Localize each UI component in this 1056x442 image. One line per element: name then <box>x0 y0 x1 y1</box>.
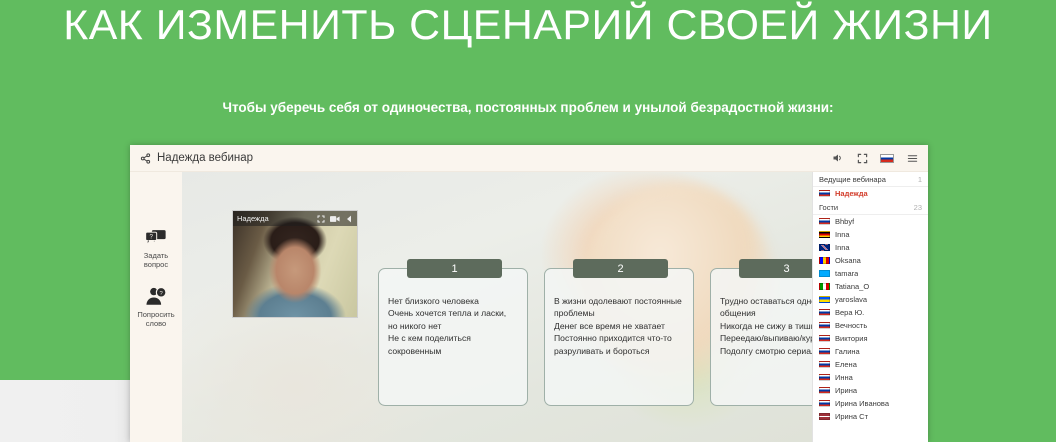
participant-name: Ирина Ст <box>835 412 868 421</box>
country-flag-icon <box>819 335 830 342</box>
country-flag-icon <box>819 361 830 368</box>
country-flag-icon <box>819 257 830 264</box>
list-item[interactable]: Tatiana_O <box>813 280 928 293</box>
ask-question-label: Задать вопрос <box>132 251 180 269</box>
country-flag-icon <box>819 283 830 290</box>
participant-name: Елена <box>835 360 857 369</box>
list-item[interactable]: Виктория <box>813 332 928 345</box>
guest-list: BhbyfInnaInnaOksanatamaraTatiana_Oyarosl… <box>813 215 928 423</box>
webinar-body: ? Задать вопрос ? Попросить слово <box>130 172 928 442</box>
video-control-strip: Надежда <box>233 211 357 226</box>
country-flag-icon <box>819 270 830 277</box>
list-item[interactable]: Елена <box>813 358 928 371</box>
guests-count: 23 <box>914 203 922 212</box>
country-flag-icon <box>819 400 830 407</box>
card-text: В жизни одолевают постоянные проблемы Де… <box>554 295 684 357</box>
video-fullscreen-icon[interactable] <box>317 215 325 223</box>
list-item[interactable]: yaroslava <box>813 293 928 306</box>
card-number: 2 <box>573 259 668 278</box>
presentation-stage: Надежда <box>182 172 812 442</box>
webinar-topbar: Надежда вебинар <box>130 145 928 172</box>
country-flag-icon <box>819 387 830 394</box>
page-subtitle: Чтобы уберечь себя от одиночества, посто… <box>0 100 1056 115</box>
card-text: Трудно оставаться одной, без общения Ник… <box>720 295 812 357</box>
list-item[interactable]: Inna <box>813 228 928 241</box>
country-flag-icon <box>819 190 830 197</box>
list-item[interactable]: Вечность <box>813 319 928 332</box>
webinar-title: Надежда вебинар <box>157 152 253 164</box>
list-item[interactable]: Надежда <box>813 187 928 200</box>
presenter-video-panel[interactable]: Надежда <box>232 210 358 318</box>
participant-name: Inna <box>835 230 850 239</box>
participant-name: Ирина Иванова <box>835 399 889 408</box>
card-number: 3 <box>739 259 812 278</box>
card-text: Нет близкого человека Очень хочется тепл… <box>388 295 518 357</box>
participant-name: Bhbyf <box>835 217 854 226</box>
fullscreen-icon[interactable] <box>854 151 870 165</box>
menu-icon[interactable] <box>904 151 920 165</box>
ask-question-icon: ? <box>132 226 180 248</box>
list-item[interactable]: Ирина <box>813 384 928 397</box>
slide-card: 1 Нет близкого человека Очень хочется те… <box>378 268 528 406</box>
list-item[interactable]: tamara <box>813 267 928 280</box>
list-item[interactable]: Инна <box>813 371 928 384</box>
language-flag-icon[interactable] <box>879 151 895 165</box>
participant-name: yaroslava <box>835 295 867 304</box>
country-flag-icon <box>819 309 830 316</box>
country-flag-icon <box>819 296 830 303</box>
share-icon[interactable] <box>140 153 151 164</box>
participant-name: Галина <box>835 347 860 356</box>
list-item[interactable]: Галина <box>813 345 928 358</box>
presenter-name: Надежда <box>237 214 269 223</box>
speaker-icon[interactable] <box>829 151 845 165</box>
svg-text:?: ? <box>149 234 153 241</box>
page-bottom-strip <box>0 380 130 442</box>
hosts-label: Ведущие вебинара <box>819 175 918 184</box>
list-item[interactable]: Oksana <box>813 254 928 267</box>
slide-cards: 1 Нет близкого человека Очень хочется те… <box>378 268 812 406</box>
country-flag-icon <box>819 322 830 329</box>
list-item[interactable]: Bhbyf <box>813 215 928 228</box>
card-number: 1 <box>407 259 502 278</box>
tool-rail: ? Задать вопрос ? Попросить слово <box>130 172 182 442</box>
request-mic-label: Попросить слово <box>132 310 180 328</box>
participant-name: Виктория <box>835 334 868 343</box>
participant-name: tamara <box>835 269 858 278</box>
participant-name: Tatiana_O <box>835 282 869 291</box>
list-item[interactable]: Вера Ю. <box>813 306 928 319</box>
participant-name: Надежда <box>835 189 868 198</box>
request-mic-icon: ? <box>132 285 180 307</box>
volume-icon[interactable] <box>345 215 353 223</box>
participant-name: Oksana <box>835 256 861 265</box>
list-item[interactable]: Ирина Ст <box>813 410 928 423</box>
request-mic-button[interactable]: ? Попросить слово <box>132 285 180 328</box>
hosts-header: Ведущие вебинара 1 <box>813 172 928 187</box>
guests-label: Гости <box>819 203 914 212</box>
hosts-count: 1 <box>918 175 922 184</box>
country-flag-icon <box>819 218 830 225</box>
country-flag-icon <box>819 244 830 251</box>
country-flag-icon <box>819 413 830 420</box>
country-flag-icon <box>819 231 830 238</box>
participants-panel[interactable]: Ведущие вебинара 1 Надежда Гости 23 Bhby… <box>812 172 928 442</box>
participant-name: Inna <box>835 243 850 252</box>
guests-header: Гости 23 <box>813 200 928 215</box>
country-flag-icon <box>819 348 830 355</box>
slide-card: 3 Трудно оставаться одной, без общения Н… <box>710 268 812 406</box>
list-item[interactable]: Inna <box>813 241 928 254</box>
presenter-video-feed <box>233 211 357 317</box>
slide-card: 2 В жизни одолевают постоянные проблемы … <box>544 268 694 406</box>
country-flag-icon <box>819 374 830 381</box>
participant-name: Ирина <box>835 386 857 395</box>
participant-name: Вера Ю. <box>835 308 864 317</box>
page-title: КАК ИЗМЕНИТЬ СЦЕНАРИЙ СВОЕЙ ЖИЗНИ <box>0 0 1056 48</box>
participant-name: Инна <box>835 373 853 382</box>
webinar-window: Надежда вебинар <box>130 145 928 442</box>
ask-question-button[interactable]: ? Задать вопрос <box>132 226 180 269</box>
camera-icon[interactable] <box>330 215 340 223</box>
participant-name: Вечность <box>835 321 867 330</box>
list-item[interactable]: Ирина Иванова <box>813 397 928 410</box>
